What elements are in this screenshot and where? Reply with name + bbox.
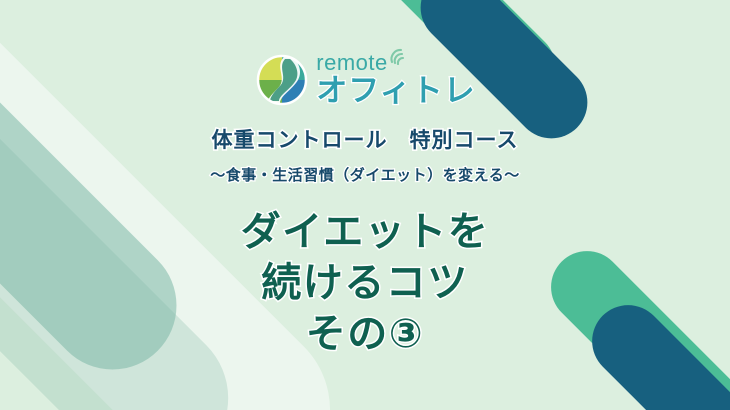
main-title: ダイエットを 続けるコツ その③ (241, 207, 490, 361)
main-title-line-1: ダイエットを (241, 207, 490, 258)
wordmark-latin: remote (316, 52, 387, 74)
logo-circle-leaf-icon (254, 52, 310, 108)
course-subtitle: 〜食事・生活習慣（ダイエット）を変える〜 (210, 164, 519, 185)
brand-logo: remote オフィトレ (254, 52, 475, 108)
slide-content: remote オフィトレ 体重コントロール 特別コース (0, 0, 730, 410)
course-title: 体重コントロール 特別コース (212, 124, 519, 154)
main-title-line-3: その③ (241, 309, 490, 360)
slide-canvas: remote オフィトレ 体重コントロール 特別コース (0, 0, 730, 410)
wifi-arc-icon (389, 47, 409, 70)
wordmark-kana: オフィトレ (316, 74, 475, 108)
main-title-line-2: 続けるコツ (241, 258, 490, 309)
brand-wordmark: remote オフィトレ (316, 52, 475, 108)
